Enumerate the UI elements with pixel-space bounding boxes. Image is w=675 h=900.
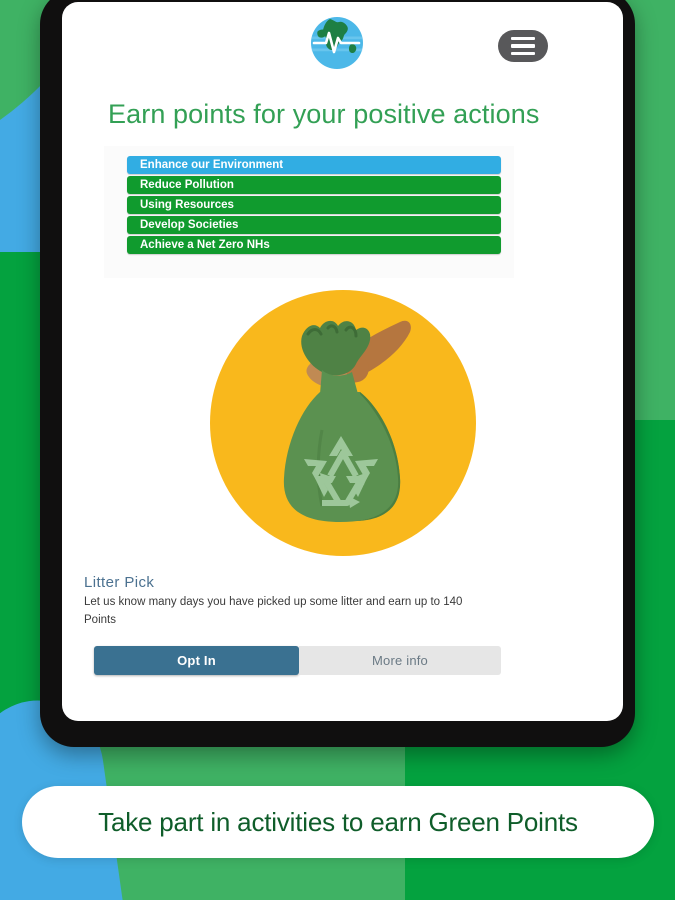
page-title: Earn points for your positive actions xyxy=(108,100,587,128)
hand-holding-recycling-bag-icon xyxy=(210,290,476,556)
menu-line-3 xyxy=(511,52,535,56)
category-item-enhance-our-environment[interactable]: Enhance our Environment xyxy=(127,156,501,174)
category-item-develop-societies[interactable]: Develop Societies xyxy=(127,216,501,234)
category-item-reduce-pollution[interactable]: Reduce Pollution xyxy=(127,176,501,194)
activity-description: Let us know many days you have picked up… xyxy=(84,594,496,629)
phone-mockup: Earn points for your positive actions En… xyxy=(40,0,635,747)
category-item-using-resources[interactable]: Using Resources xyxy=(127,196,501,214)
activity-actions: Opt In More info xyxy=(94,646,501,675)
activity-title: Litter Pick xyxy=(84,574,516,591)
hamburger-menu-icon[interactable] xyxy=(498,30,548,62)
menu-line-2 xyxy=(511,44,535,48)
category-list: Enhance our Environment Reduce Pollution… xyxy=(104,146,514,278)
app-header xyxy=(62,2,623,94)
caption-banner: Take part in activities to earn Green Po… xyxy=(22,786,654,858)
menu-line-1 xyxy=(511,37,535,41)
activity-illustration-wrap xyxy=(62,290,623,556)
opt-in-button[interactable]: Opt In xyxy=(94,646,299,675)
activity-details: Litter Pick Let us know many days you ha… xyxy=(84,574,516,629)
more-info-button[interactable]: More info xyxy=(299,646,501,675)
caption-text: Take part in activities to earn Green Po… xyxy=(98,807,578,838)
globe-pulse-icon xyxy=(308,14,366,72)
phone-screen: Earn points for your positive actions En… xyxy=(62,2,623,721)
screenshot-stage: Earn points for your positive actions En… xyxy=(0,0,675,900)
category-item-achieve-a-net-zero-nhs[interactable]: Achieve a Net Zero NHs xyxy=(127,236,501,254)
